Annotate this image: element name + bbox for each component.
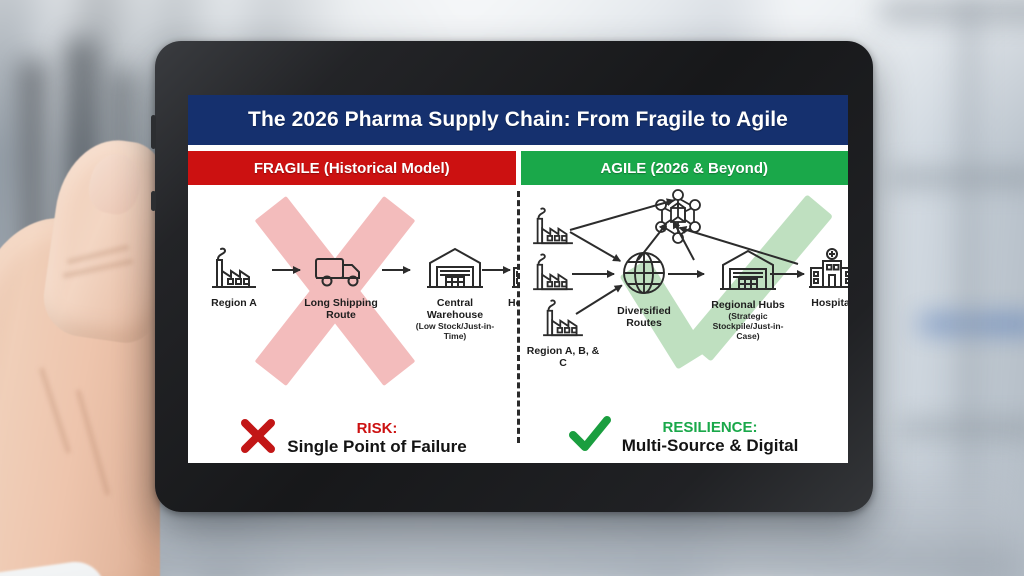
header-fragile-label: FRAGILE (Historical Model)	[254, 160, 450, 177]
node-factory-c: Region A, B, & C	[524, 299, 602, 369]
node-hospital-fragile-label: Hospital	[508, 297, 518, 309]
header-fragile: FRAGILE (Historical Model)	[188, 151, 516, 185]
node-regional-hubs: Regional Hubs (Strategic Stockpile/Just-…	[702, 247, 794, 341]
green-check-mark	[568, 415, 612, 459]
truck-icon	[300, 247, 382, 294]
fragile-panel: Region A	[188, 185, 518, 463]
node-regional-hubs-sub: (Strategic Stockpile/Just-in-Case)	[702, 311, 794, 341]
network-node-icon	[648, 189, 708, 252]
tablet-screen[interactable]: The 2026 Pharma Supply Chain: From Fragi…	[188, 95, 848, 463]
arrow-warehouse-to-hospital	[482, 269, 510, 271]
node-diversified-routes-label: Diversified Routes	[614, 305, 674, 329]
node-regional-hubs-label: Regional Hubs	[702, 299, 794, 311]
comparison-panels: Region A	[188, 185, 848, 463]
warehouse-icon	[702, 247, 794, 296]
fragile-verdict: RISK: Single Point of Failure	[188, 417, 518, 459]
power-button[interactable]	[151, 191, 156, 211]
arrow-globe-to-hubs	[668, 273, 704, 275]
volume-button[interactable]	[151, 115, 156, 149]
resilience-statement: Multi-Source & Digital	[622, 436, 799, 455]
header-agile: AGILE (2026 & Beyond)	[521, 151, 849, 185]
page-title: The 2026 Pharma Supply Chain: From Fragi…	[248, 108, 788, 132]
risk-statement: Single Point of Failure	[287, 437, 466, 456]
node-digital-network	[648, 189, 708, 252]
tablet-device: The 2026 Pharma Supply Chain: From Fragi…	[155, 41, 873, 512]
arrow-factory-b-to-globe	[572, 273, 614, 275]
slide-title-band: The 2026 Pharma Supply Chain: From Fragi…	[188, 95, 848, 145]
node-diversified-routes: Diversified Routes	[614, 249, 674, 329]
header-agile-label: AGILE (2026 & Beyond)	[600, 160, 768, 177]
background-streak	[890, 170, 1024, 186]
node-hospital-fragile: Hospital	[446, 247, 518, 309]
node-region-a-label: Region A	[196, 297, 272, 309]
resilience-headline: RESILIENCE:	[622, 419, 799, 436]
node-long-shipping-route-label: Long Shipping Route	[300, 297, 382, 321]
hospital-icon	[510, 247, 518, 294]
column-headers: FRAGILE (Historical Model) AGILE (2026 &…	[188, 151, 848, 185]
red-x-mark	[239, 417, 277, 459]
agile-panel: Region A, B, & C	[518, 185, 848, 463]
node-hospital-agile: Hospital	[802, 247, 848, 309]
arrow-region-to-truck	[272, 269, 300, 271]
node-central-warehouse-sub: (Low Stock/Just-in-Time)	[410, 321, 500, 341]
node-long-shipping-route: Long Shipping Route	[300, 247, 382, 321]
node-region-a: Region A	[196, 247, 272, 309]
arrow-truck-to-warehouse	[382, 269, 410, 271]
hospital-icon	[802, 247, 848, 294]
background-streak	[880, 0, 1024, 22]
node-hospital-agile-label: Hospital	[802, 297, 848, 309]
photo-scene: The 2026 Pharma Supply Chain: From Fragi…	[0, 0, 1024, 576]
factory-icon	[196, 247, 272, 294]
risk-headline: RISK:	[287, 420, 466, 437]
agile-verdict: RESILIENCE: Multi-Source & Digital	[518, 415, 848, 459]
node-regions-label: Region A, B, & C	[524, 345, 602, 369]
arrow-hubs-to-hospital	[770, 273, 804, 275]
